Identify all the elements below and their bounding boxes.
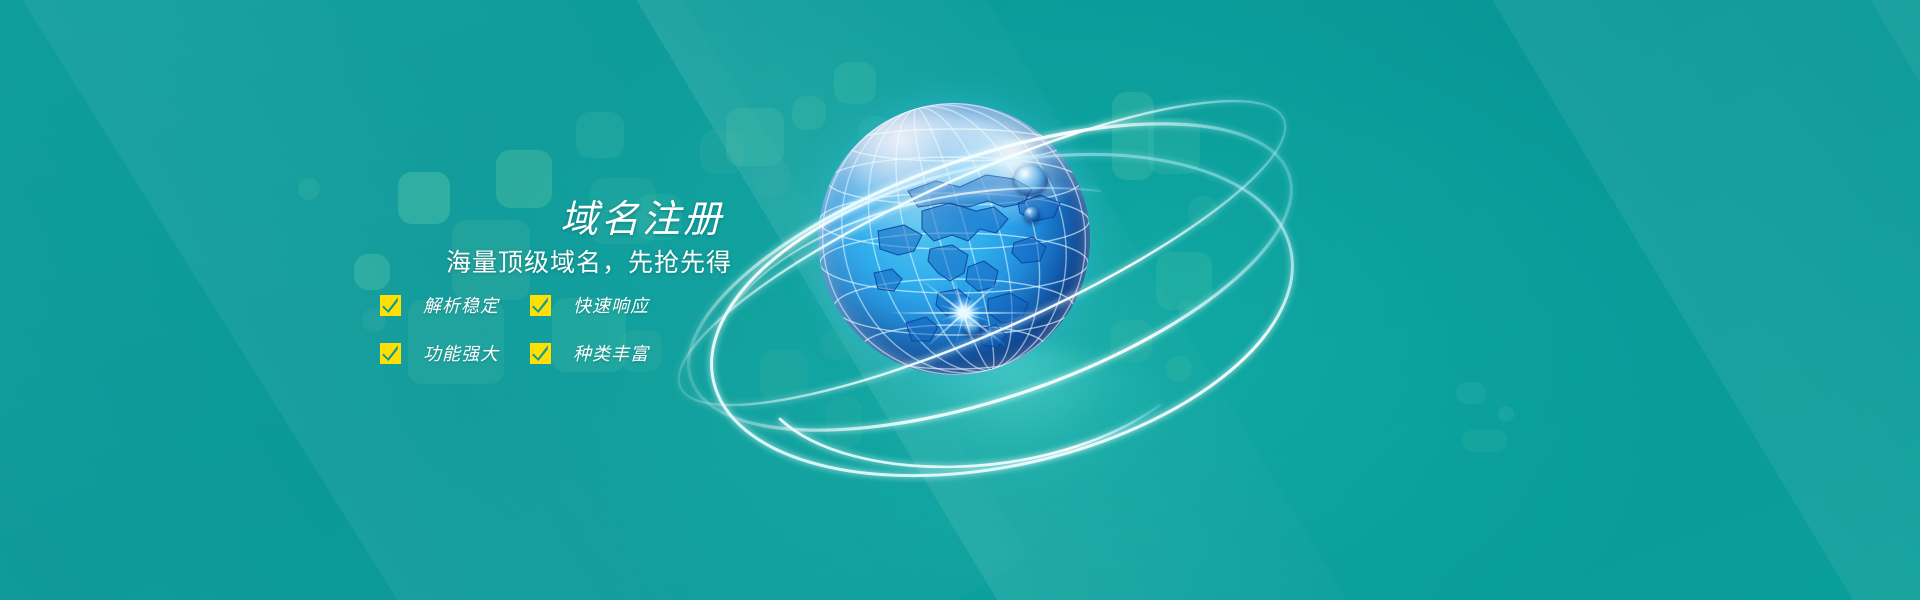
light-flare-starburst (962, 311, 966, 315)
feature-label: 功能强大 (423, 340, 499, 366)
feature-label: 种类丰富 (573, 340, 649, 366)
orbit-rings (630, 15, 1390, 575)
checkbox-checked-icon (530, 295, 551, 316)
feature-label: 快速响应 (573, 292, 649, 318)
globe-earth-illustration (790, 75, 1220, 505)
checkbox-checked-icon (380, 295, 401, 316)
checkbox-checked-icon (530, 343, 551, 364)
banner-subtitle: 海量顶级域名，先抢先得 (390, 243, 788, 279)
feature-row: 功能强大 种类丰富 (380, 331, 680, 375)
feature-label: 解析稳定 (423, 292, 499, 318)
feature-item: 功能强大 (380, 340, 530, 366)
checkbox-checked-icon (380, 343, 401, 364)
domain-registration-banner: 域名注册 海量顶级域名，先抢先得 解析稳定 快速响应 功能强大 (0, 0, 1920, 600)
feature-item: 快速响应 (530, 292, 680, 318)
feature-item: 解析稳定 (380, 292, 530, 318)
feature-item: 种类丰富 (530, 340, 680, 366)
banner-title: 域名注册 (476, 188, 724, 243)
feature-list: 解析稳定 快速响应 功能强大 种类丰富 (380, 283, 680, 375)
feature-row: 解析稳定 快速响应 (380, 283, 680, 327)
